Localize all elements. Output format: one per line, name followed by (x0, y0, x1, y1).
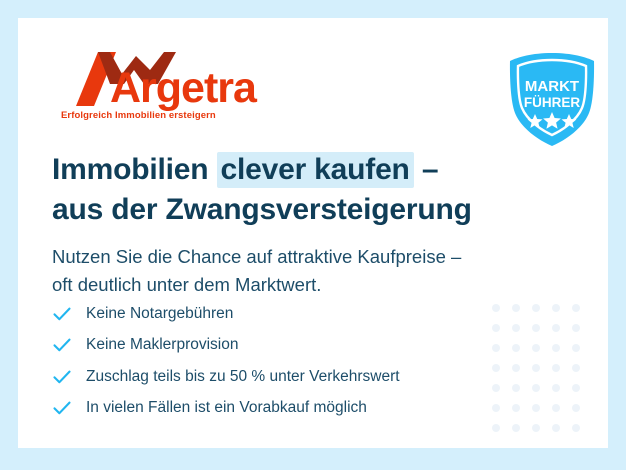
benefit-label: Keine Maklerprovision (86, 337, 239, 353)
logo-mark-and-wordmark-icon: Argetra (58, 44, 278, 114)
decorative-dot (552, 304, 560, 312)
subtitle: Nutzen Sie die Chance auf attraktive Kau… (52, 243, 532, 299)
decorative-dot (492, 424, 500, 432)
decorative-dot (572, 344, 580, 352)
decorative-dot (552, 364, 560, 372)
benefit-label: Zuschlag teils bis zu 50 % unter Verkehr… (86, 369, 400, 385)
decorative-dot (552, 424, 560, 432)
decorative-dot (552, 324, 560, 332)
decorative-dot (532, 324, 540, 332)
decorative-dot (532, 304, 540, 312)
check-icon (52, 367, 72, 387)
decorative-dot (532, 344, 540, 352)
decorative-dot (532, 404, 540, 412)
badge-line1-text: MARKT (525, 78, 579, 95)
decorative-dot (532, 384, 540, 392)
decorative-dot (552, 404, 560, 412)
argetra-logo[interactable]: Argetra Erfolgreich Immobilien ersteiger… (58, 44, 278, 130)
headline: Immobilien clever kaufen – aus der Zwang… (52, 150, 552, 229)
decorative-dot (532, 364, 540, 372)
check-icon (52, 304, 72, 324)
decorative-dot (572, 364, 580, 372)
headline-text-after: – (414, 153, 439, 186)
decorative-dot (552, 344, 560, 352)
decorative-dot (532, 424, 540, 432)
svg-text:Argetra: Argetra (110, 64, 258, 112)
benefit-label: In vielen Fällen ist ein Vorabkauf mögli… (86, 400, 367, 416)
decorative-dot (512, 424, 520, 432)
advertisement-banner[interactable]: Argetra Erfolgreich Immobilien ersteiger… (0, 0, 626, 470)
decorative-dot (572, 324, 580, 332)
decorative-dot (572, 384, 580, 392)
benefit-item: Keine Maklerprovision (52, 331, 532, 360)
benefit-list: Keine NotargebührenKeine Maklerprovision… (52, 299, 532, 425)
decorative-dot (572, 304, 580, 312)
benefit-item: Keine Notargebühren (52, 299, 532, 328)
shield-badge-icon: MARKT FÜHRER (502, 50, 602, 150)
badge-line2-text: FÜHRER (524, 95, 580, 110)
decorative-dot (552, 384, 560, 392)
decorative-dot (572, 424, 580, 432)
check-icon (52, 335, 72, 355)
banner-card: Argetra Erfolgreich Immobilien ersteiger… (18, 18, 608, 448)
subtitle-line-1: Nutzen Sie die Chance auf attraktive Kau… (52, 243, 532, 271)
marktfuehrer-badge[interactable]: MARKT FÜHRER (502, 50, 602, 150)
subtitle-line-2: oft deutlich unter dem Marktwert. (52, 271, 532, 299)
headline-line-1: Immobilien clever kaufen – (52, 150, 552, 190)
decorative-dot (572, 404, 580, 412)
benefit-label: Keine Notargebühren (86, 306, 233, 322)
benefit-item: Zuschlag teils bis zu 50 % unter Verkehr… (52, 362, 532, 391)
logo-tagline: Erfolgreich Immobilien ersteigern (61, 110, 216, 121)
headline-line-2: aus der Zwangsversteigerung (52, 190, 552, 230)
headline-text-before: Immobilien (52, 153, 217, 186)
headline-highlight: clever kaufen (217, 152, 414, 188)
check-icon (52, 398, 72, 418)
benefit-item: In vielen Fällen ist ein Vorabkauf mögli… (52, 394, 532, 423)
